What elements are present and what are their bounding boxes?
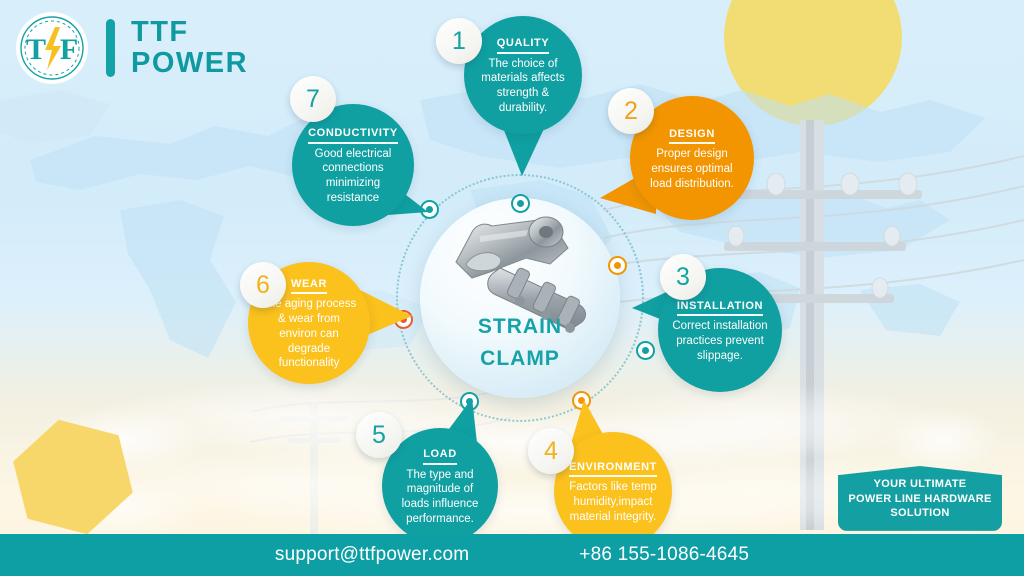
brand-name: TTF POWER [131, 17, 248, 80]
hexagon-shape [1, 405, 144, 548]
bubble-conductivity[interactable]: Conductivity Good electrical connections… [292, 104, 414, 226]
bubble-number-1: 1 [436, 18, 482, 64]
orbit-node-1 [513, 196, 528, 211]
tagline-badge: YOUR ULTIMATE POWER LINE HARDWARE SOLUTI… [838, 466, 1002, 542]
infographic-canvas: T F TTF POWER [0, 0, 1024, 576]
bubble-number-3: 3 [660, 254, 706, 300]
bubble-title-6: Wear [291, 275, 327, 294]
svg-text:F: F [60, 33, 78, 66]
ttf-power-logo-icon: T F [14, 10, 90, 86]
center-title-line1: Strain [420, 308, 620, 340]
brand-header: T F TTF POWER [14, 10, 248, 86]
center-hub: Strain Clamp [420, 198, 620, 398]
bubble-body-3: Correct installation practices prevent s… [671, 319, 769, 363]
svg-text:T: T [26, 33, 46, 66]
bubble-number-5: 5 [356, 412, 402, 458]
tagline-line2: POWER LINE HARDWARE [846, 492, 994, 507]
bubble-body-6: The aging process & wear from environ ca… [261, 297, 357, 371]
orbit-node-2 [610, 258, 625, 273]
tagline-line3: SOLUTION [846, 506, 994, 521]
orbit-node-3 [638, 343, 653, 358]
center-title-line2: Clamp [420, 340, 620, 372]
bubble-number-6: 6 [240, 262, 286, 308]
footer-email[interactable]: support@ttfpower.com [275, 544, 469, 566]
bubble-title-2: Design [669, 125, 715, 144]
bubble-title-1: Quality [497, 34, 549, 53]
bubble-title-7: Conductivity [308, 124, 398, 143]
bubble-title-5: Load [423, 445, 457, 464]
brand-name-line1: TTF [131, 17, 248, 48]
bubble-body-4: Factors like temp humidity,impact materi… [567, 480, 659, 524]
bubble-number-7: 7 [290, 76, 336, 122]
bubble-body-1: The choice of materials affects strength… [477, 57, 569, 116]
tagline-banner: YOUR ULTIMATE POWER LINE HARDWARE SOLUTI… [838, 466, 1002, 531]
bubble-quality[interactable]: Quality The choice of materials affects … [464, 16, 582, 134]
bubble-title-4: Environment [569, 458, 657, 477]
bubble-number-2: 2 [608, 88, 654, 134]
footer-bar: support@ttfpower.com +86 155-1086-4645 [0, 534, 1024, 576]
center-title: Strain Clamp [420, 308, 620, 372]
brand-name-line2: POWER [131, 48, 248, 79]
bubble-body-7: Good electrical connections minimizing r… [305, 147, 401, 206]
brand-divider [106, 19, 115, 77]
bubble-body-2: Proper design ensures optimal load distr… [643, 147, 741, 191]
tagline-line1: YOUR ULTIMATE [846, 477, 994, 492]
bubble-body-5: The type and magnitude of loads influenc… [395, 468, 485, 527]
bubble-number-4: 4 [528, 428, 574, 474]
bubble-title-3: Installation [677, 297, 763, 316]
footer-phone[interactable]: +86 155-1086-4645 [579, 544, 749, 566]
sun-circle [724, 0, 902, 126]
